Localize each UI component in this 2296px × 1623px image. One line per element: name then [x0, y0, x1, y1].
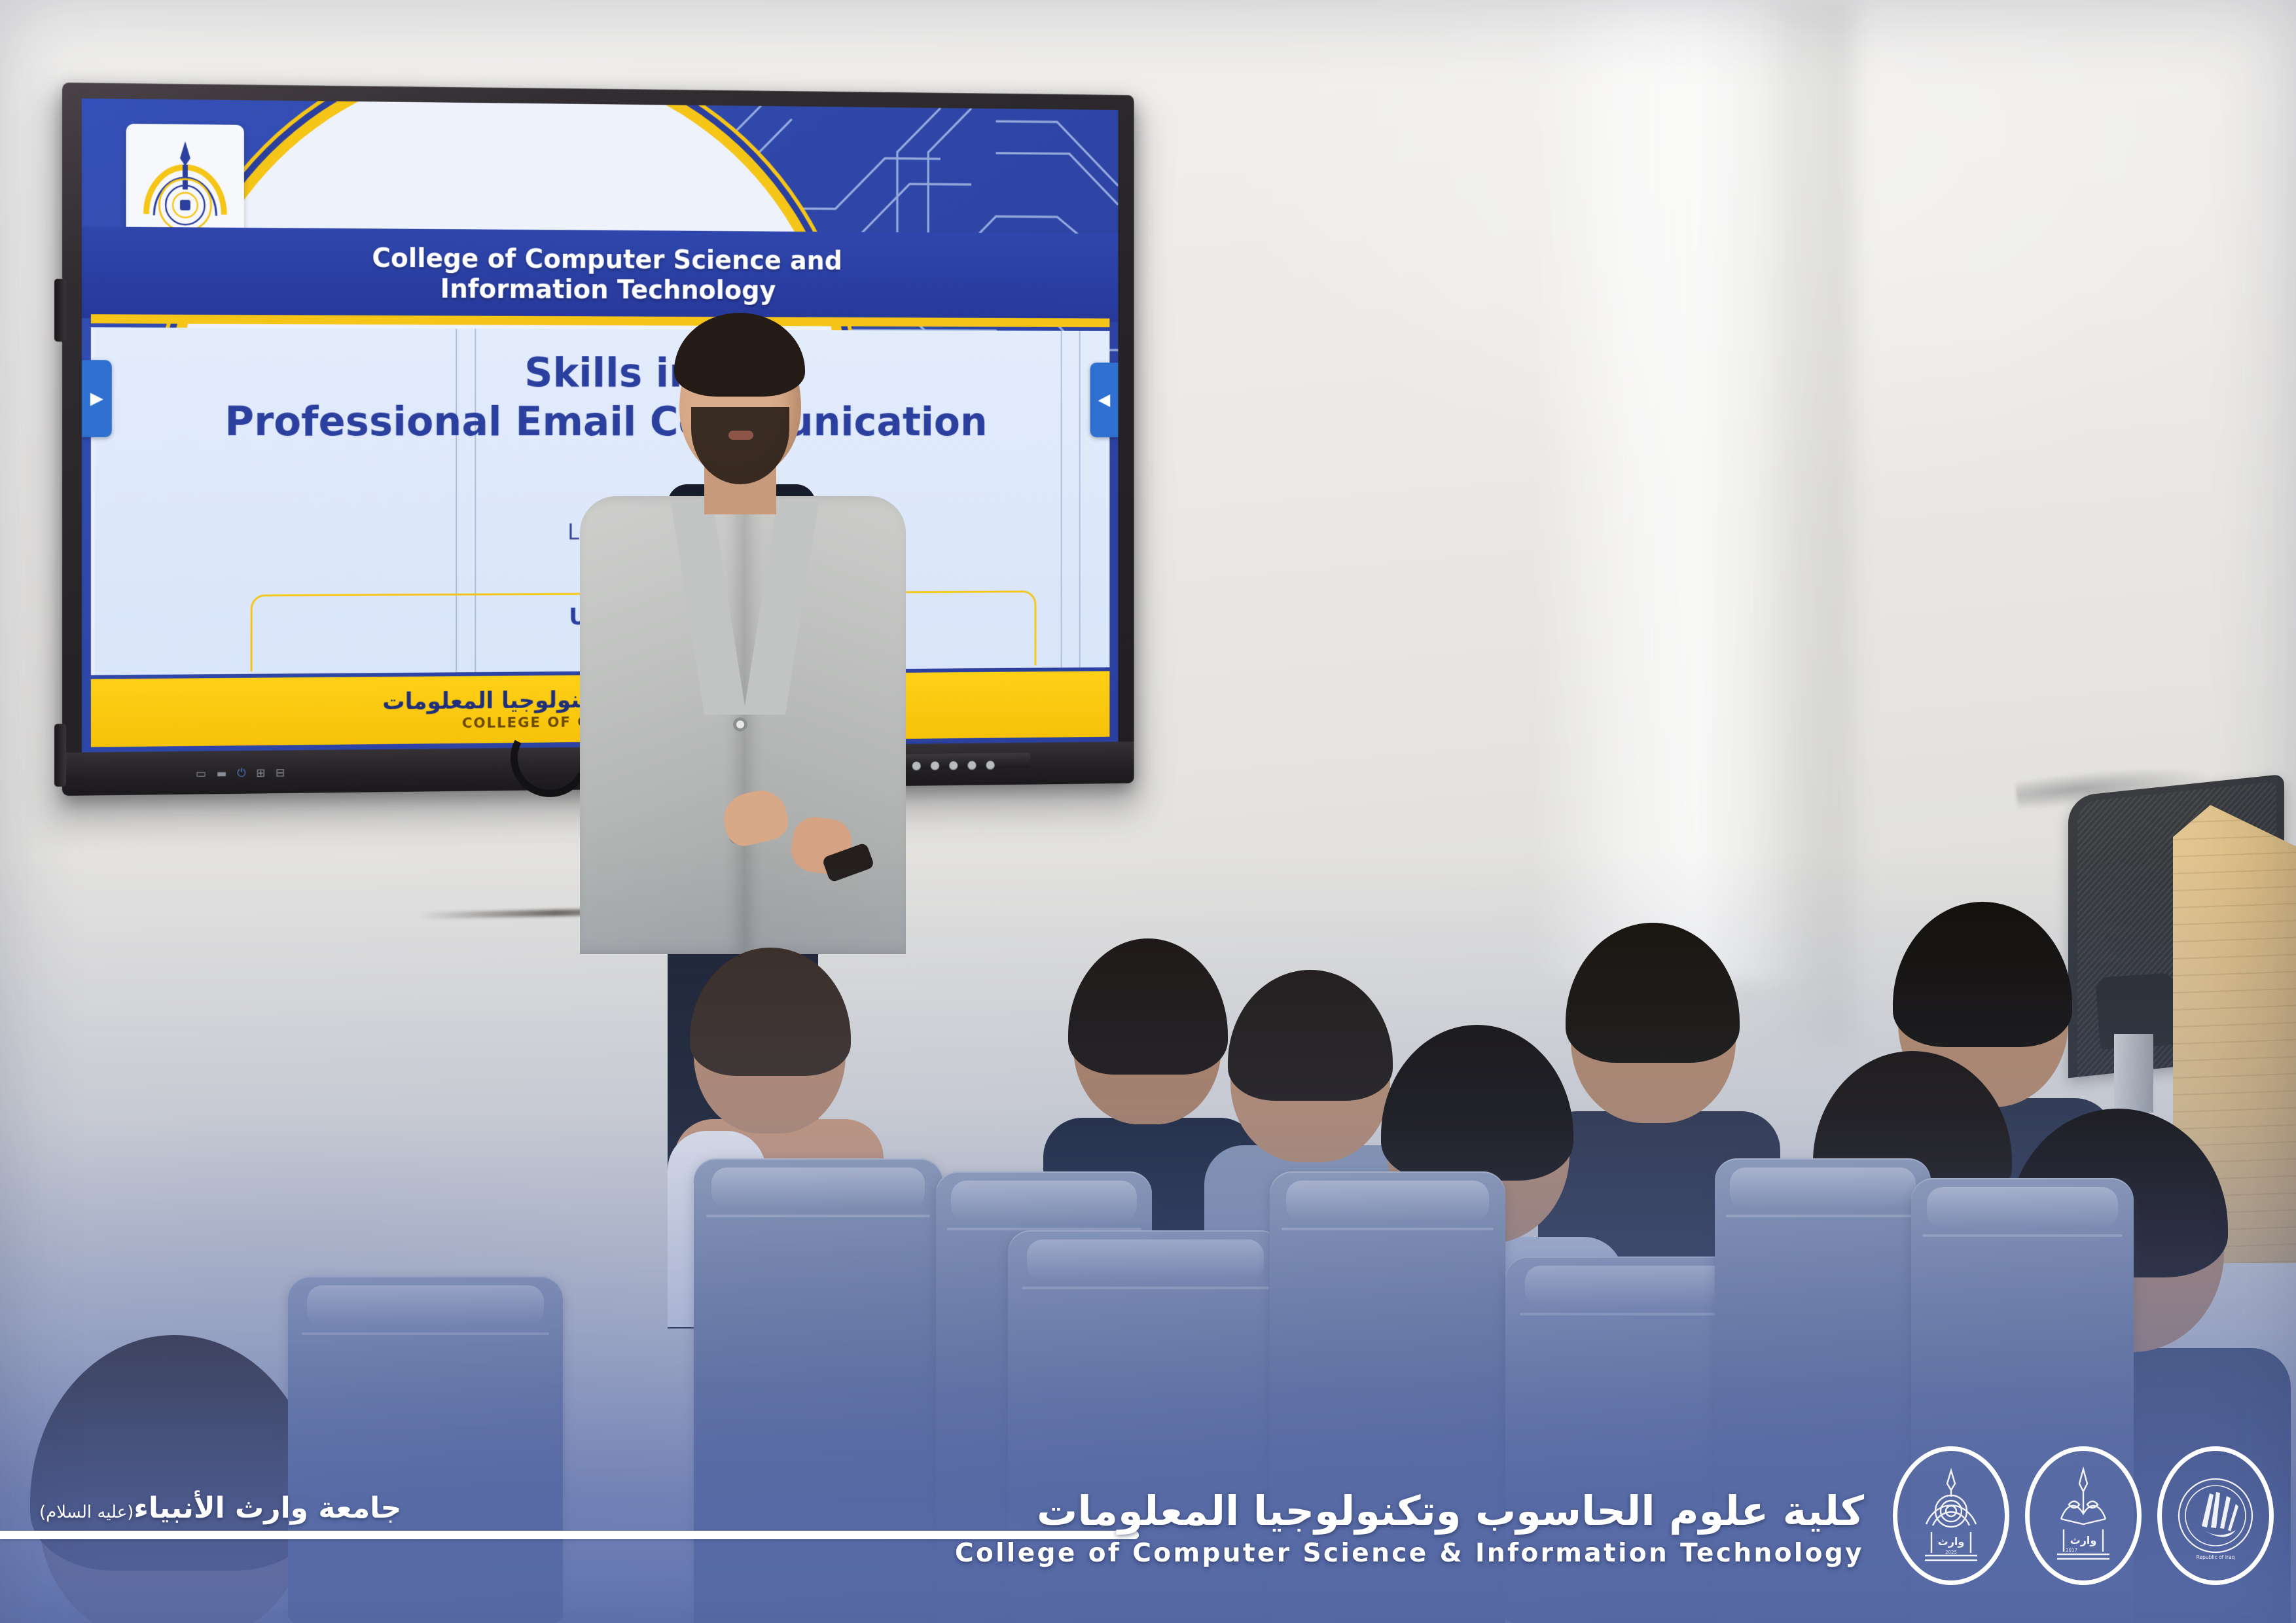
- input-icon[interactable]: ▬: [216, 768, 226, 779]
- screen-toolbar-tab-left[interactable]: ▶: [82, 360, 112, 437]
- slide-header-band: College of Computer Science and Informat…: [82, 226, 1118, 322]
- student-hair: [1566, 923, 1740, 1063]
- indicator-dot: [912, 762, 921, 771]
- wall-corner-shadow: [1761, 0, 1852, 1047]
- chair-headrest: [1286, 1181, 1489, 1221]
- slide-header-line2: Information Technology: [440, 274, 776, 306]
- chair-headrest: [1730, 1168, 1916, 1208]
- student-hair: [1228, 970, 1393, 1101]
- auditorium-chair: [1270, 1171, 1505, 1623]
- photo-scene: وارث 2025 College of Computer Science an…: [0, 0, 2296, 1623]
- indicator-dot: [986, 760, 995, 770]
- chair-seam: [1726, 1215, 1920, 1217]
- chair-seam: [706, 1215, 930, 1217]
- display-wall-bracket-bottom: [54, 724, 66, 787]
- auditorium-chair: [288, 1276, 563, 1623]
- chair-seam: [1282, 1228, 1494, 1230]
- volume-down-icon[interactable]: ⊟: [276, 768, 285, 779]
- display-button-row[interactable]: ▭ ▬ ⏻ ⊞ ⊟: [196, 768, 285, 779]
- chair-headrest: [1927, 1187, 2118, 1228]
- auditorium-chair: [694, 1158, 942, 1623]
- presenter: [569, 321, 910, 1054]
- student-foreground-head: [39, 1361, 321, 1623]
- display-wall-bracket-top: [54, 279, 66, 342]
- student-hair: [30, 1335, 318, 1571]
- indicator-dot: [931, 761, 939, 770]
- student-hair: [1068, 938, 1228, 1075]
- auditorium-chair: [1008, 1230, 1283, 1623]
- presenter-mouth: [728, 431, 753, 440]
- volume-up-icon[interactable]: ⊞: [256, 768, 265, 779]
- indicator-dot: [949, 761, 958, 770]
- chair-headrest: [711, 1168, 925, 1208]
- jacket-button: [733, 717, 747, 732]
- auditorium-chair: [1911, 1178, 2134, 1623]
- chair-seam: [1022, 1287, 1269, 1289]
- power-icon[interactable]: ⏻: [237, 768, 245, 779]
- chair-seam: [302, 1332, 549, 1335]
- student-hair: [1893, 902, 2072, 1047]
- chevron-left-icon: ◀: [1098, 391, 1111, 410]
- chair-seam: [1922, 1234, 2123, 1237]
- indicator-dot: [967, 761, 976, 770]
- auditorium-chair: [1715, 1158, 1931, 1623]
- display-indicator-dots: [896, 760, 995, 770]
- menu-icon[interactable]: ▭: [196, 769, 206, 780]
- chair-headrest: [307, 1285, 543, 1326]
- office-chair-post: [2114, 1034, 2153, 1113]
- chevron-right-icon: ▶: [90, 389, 103, 408]
- chair-headrest: [951, 1181, 1137, 1221]
- student-hair: [1381, 1025, 1573, 1181]
- slide-header-text: College of Computer Science and Informat…: [372, 243, 842, 307]
- presenter-hair: [674, 313, 805, 397]
- slide-header-line1: College of Computer Science and: [372, 243, 842, 276]
- chair-headrest: [1027, 1240, 1263, 1280]
- screen-toolbar-tab-right[interactable]: ◀: [1090, 363, 1119, 437]
